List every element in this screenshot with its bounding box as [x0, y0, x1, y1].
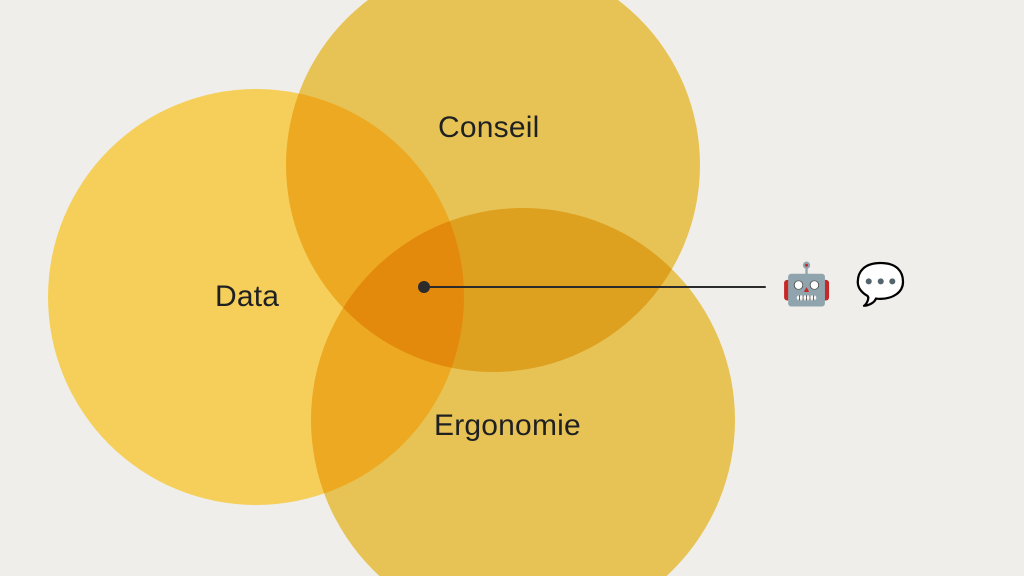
venn-label-data: Data	[215, 282, 279, 312]
venn-label-conseil: Conseil	[438, 113, 539, 143]
venn-label-ergonomie: Ergonomie	[434, 411, 581, 441]
speech-balloon-emoji: 💬	[855, 264, 906, 305]
slide-canvas: Data Conseil Ergonomie 🤖 💬	[0, 0, 1024, 576]
connector-anchor-dot	[418, 281, 430, 293]
robot-face-emoji: 🤖	[781, 264, 832, 305]
